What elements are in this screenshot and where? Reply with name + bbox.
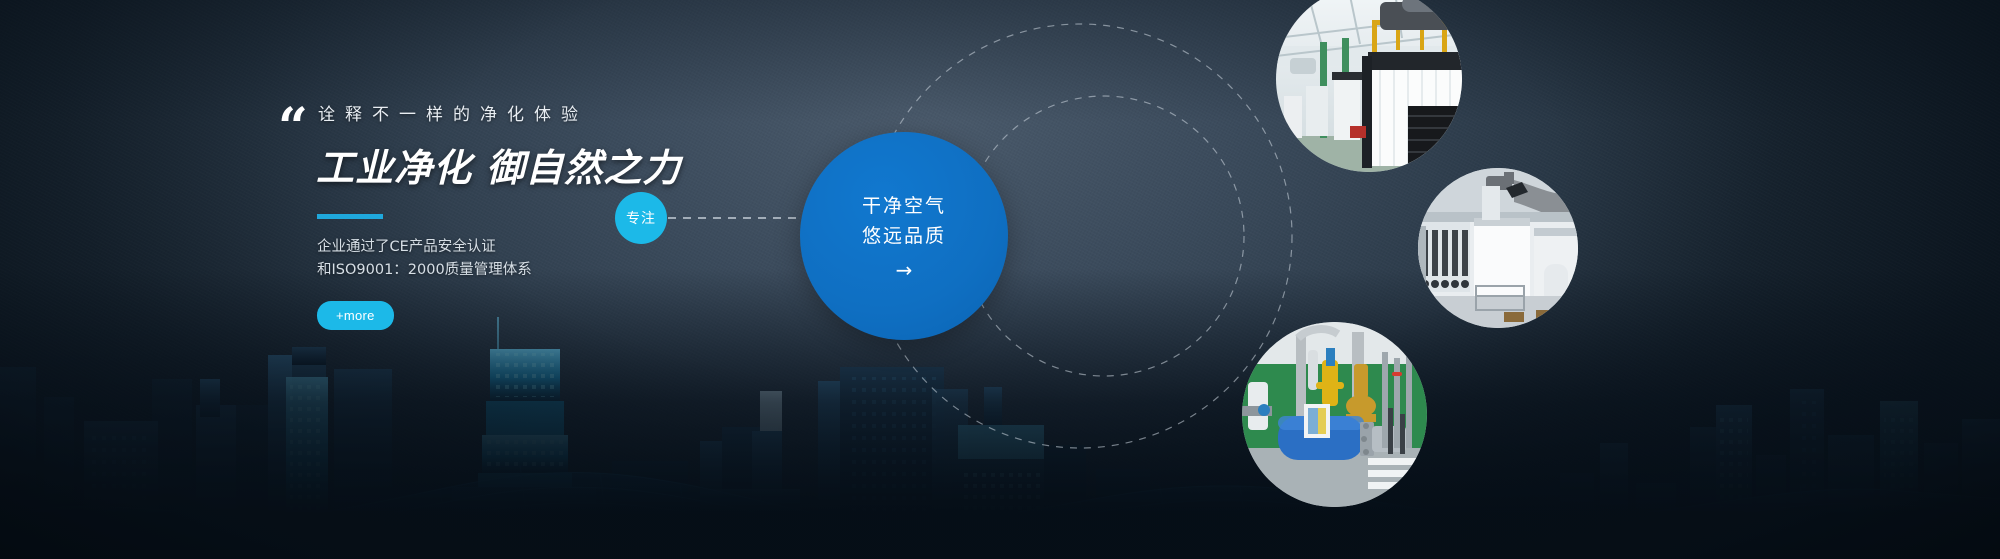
- hero-description-line-1: 企业通过了CE产品安全认证: [317, 236, 725, 259]
- photo-circle-production-machinery[interactable]: [1418, 168, 1578, 328]
- main-circle-line-1: 干净空气: [862, 192, 946, 221]
- hero-description-line-2: 和ISO9001：2000质量管理体系: [317, 259, 725, 282]
- main-circle-line-2: 悠远品质: [862, 222, 946, 251]
- focus-badge-label: 专注: [626, 208, 656, 228]
- hero-title: 工业净化 御自然之力: [305, 137, 725, 192]
- focus-badge[interactable]: 专注: [615, 192, 667, 244]
- quote-mark-icon: “: [278, 102, 306, 154]
- hero-subtitle: 诠释不一样的净化体验: [305, 100, 725, 125]
- arrow-right-icon: →: [896, 260, 913, 280]
- hero-banner: “ 诠释不一样的净化体验 工业净化 御自然之力 企业通过了CE产品安全认证 和I…: [0, 0, 2000, 559]
- title-underline-rule: [317, 214, 383, 219]
- photo-circle-pipe-valve-equipment[interactable]: [1242, 322, 1427, 507]
- main-highlight-circle[interactable]: 干净空气 悠远品质 →: [800, 132, 1008, 340]
- photo-circle-industrial-plant-interior[interactable]: [1276, 0, 1462, 172]
- more-button[interactable]: +more: [317, 301, 394, 330]
